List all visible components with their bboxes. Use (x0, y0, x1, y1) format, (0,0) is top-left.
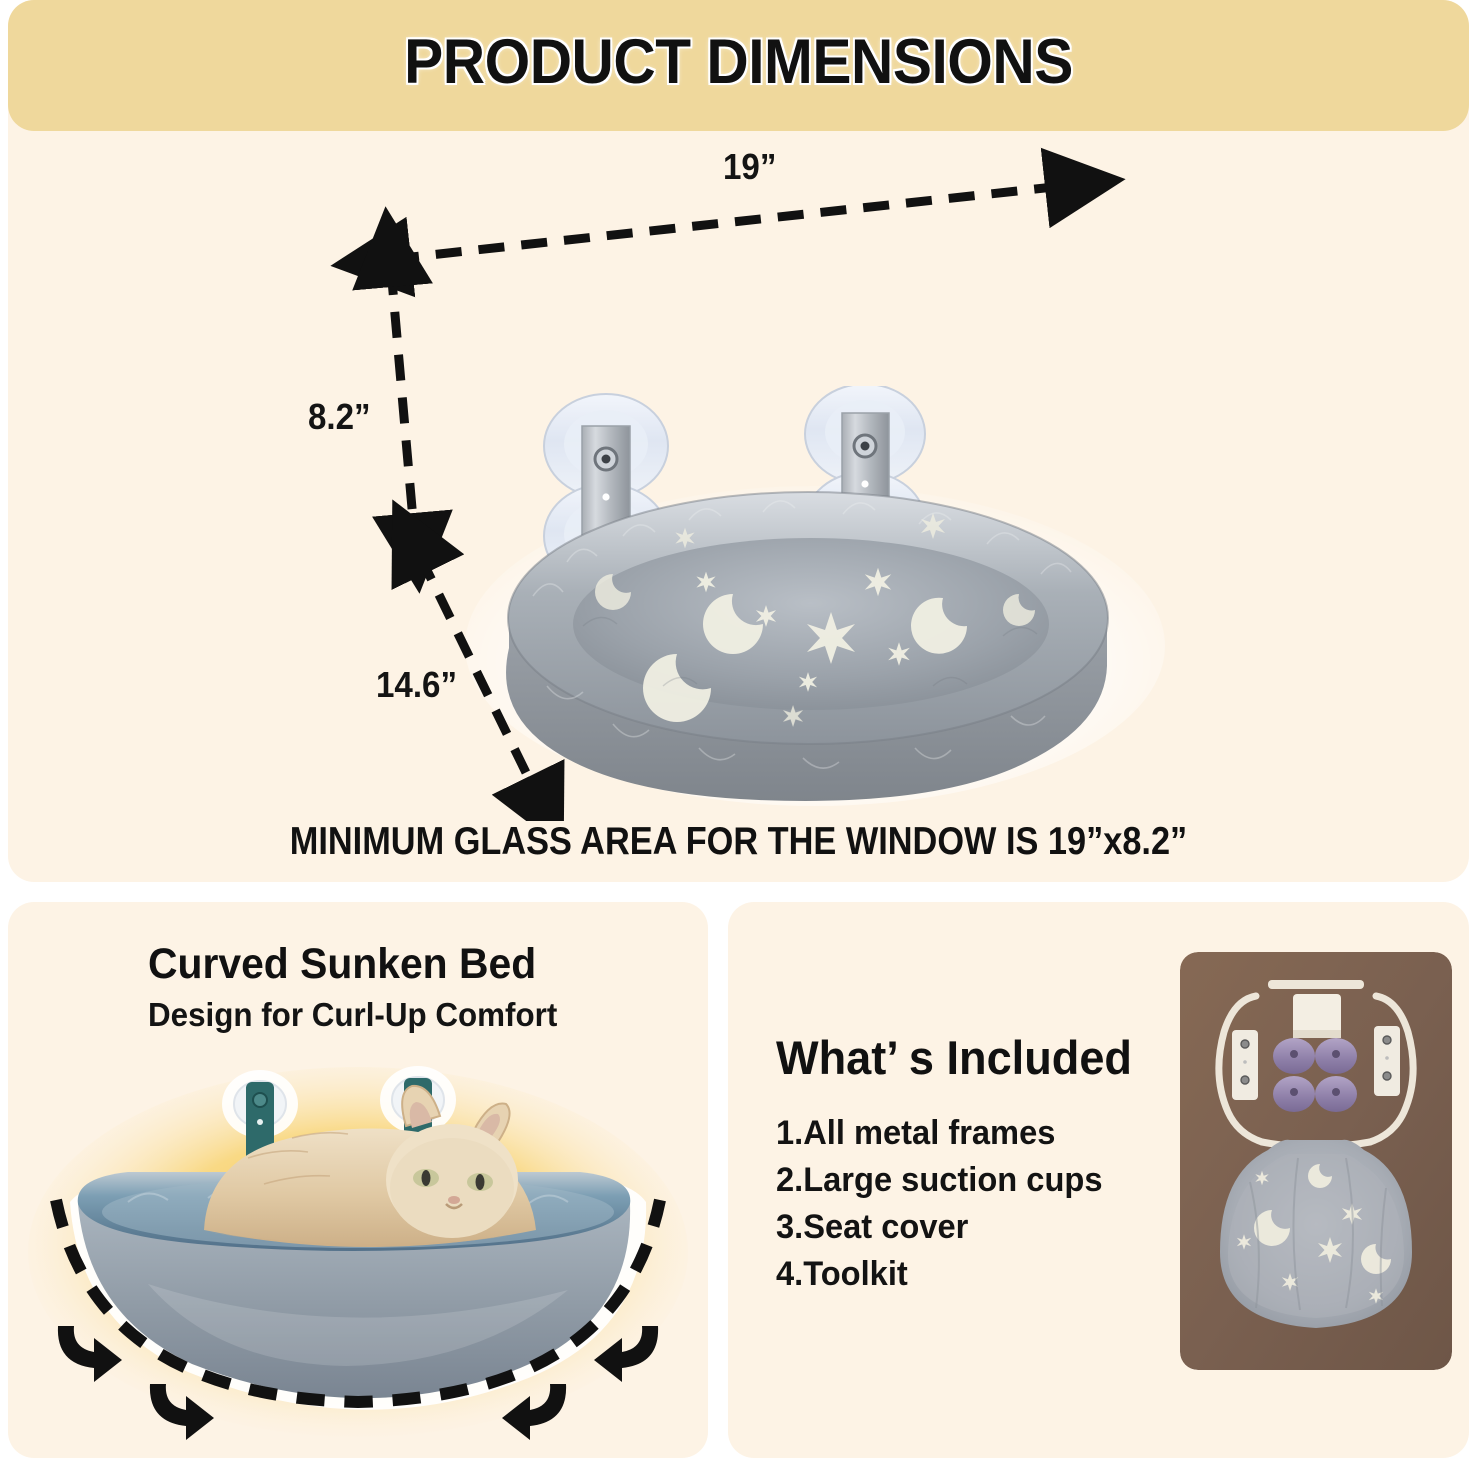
height-dimension-arrow (391, 269, 414, 531)
dimension-diagram: 19” 8.2” 14.6” (8, 131, 1469, 821)
seat-cover (1220, 1140, 1412, 1328)
height-dimension-label: 8.2” (308, 396, 371, 438)
feature-title: Curved Sunken Bed (148, 940, 536, 989)
minimum-glass-area-caption: MINIMUM GLASS AREA FOR THE WINDOW IS 19”… (96, 820, 1382, 864)
included-list: 1.All metal frames 2.Large suction cups … (776, 1110, 1176, 1298)
whats-included-panel: What’ s Included 1.All metal frames 2.La… (728, 902, 1469, 1458)
list-item: 4.Toolkit (776, 1251, 1160, 1298)
included-title: What’ s Included (776, 1030, 1132, 1085)
curved-sunken-bed-panel: Curved Sunken Bed Design for Curl-Up Com… (8, 902, 708, 1458)
kit-layout-illustration (1180, 952, 1452, 1370)
cat-in-curved-bed (8, 1052, 708, 1458)
frame-bar (1268, 980, 1364, 989)
list-item: 1.All metal frames (776, 1110, 1160, 1157)
feature-subtitle: Design for Curl-Up Comfort (148, 996, 557, 1034)
infographic-page: PRODUCT DIMENSIONS (0, 0, 1477, 1458)
list-item: 2.Large suction cups (776, 1157, 1160, 1204)
width-dimension-label: 19” (723, 146, 776, 188)
kit-contents-photo (1180, 952, 1452, 1370)
page-title: PRODUCT DIMENSIONS (59, 26, 1418, 98)
dimension-arrows (8, 131, 1469, 821)
depth-dimension-label: 14.6” (376, 664, 457, 706)
list-item: 3.Seat cover (776, 1204, 1160, 1251)
product-dimensions-panel: PRODUCT DIMENSIONS (8, 0, 1469, 882)
curved-bed-illustration (8, 1052, 708, 1458)
width-dimension-arrow (393, 186, 1063, 259)
